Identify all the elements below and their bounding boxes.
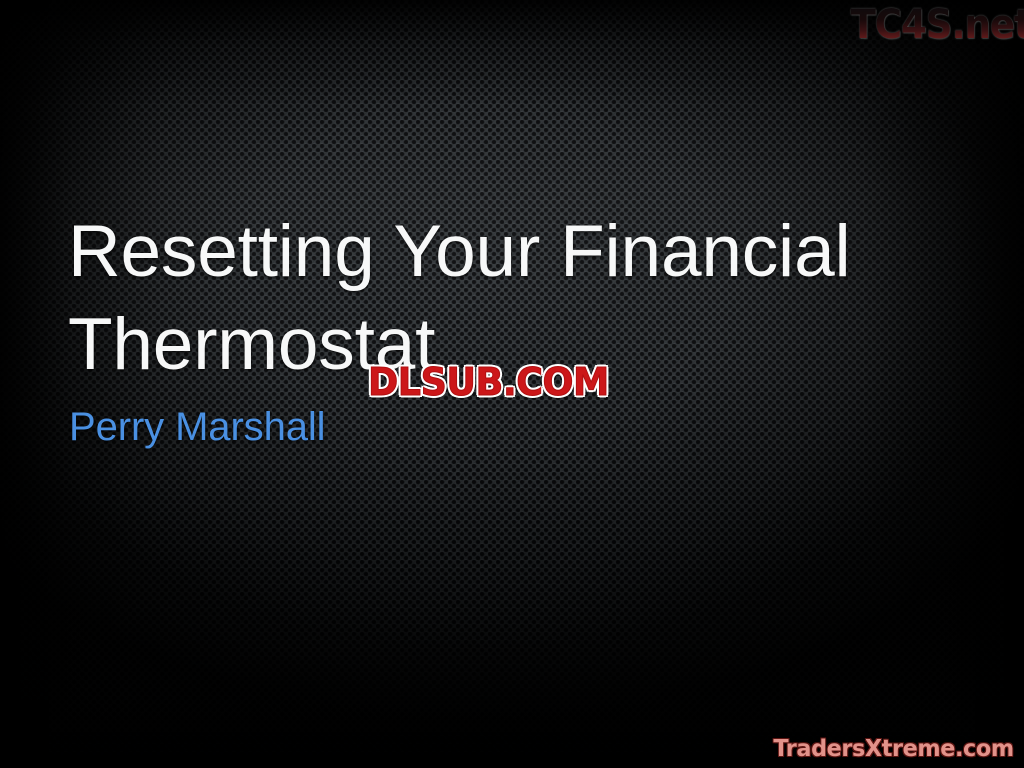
watermark-dlsub: DLSUB.COM [368, 360, 609, 404]
watermark-tradersxtreme: TradersXtreme.com [774, 736, 1014, 762]
watermark-tc4s: TC4S.net [851, 2, 1024, 48]
slide-subtitle-author: Perry Marshall [69, 405, 948, 449]
presentation-slide: Resetting Your Financial Thermostat Perr… [0, 0, 1024, 768]
slide-title-block: Resetting Your Financial Thermostat Perr… [68, 206, 948, 449]
